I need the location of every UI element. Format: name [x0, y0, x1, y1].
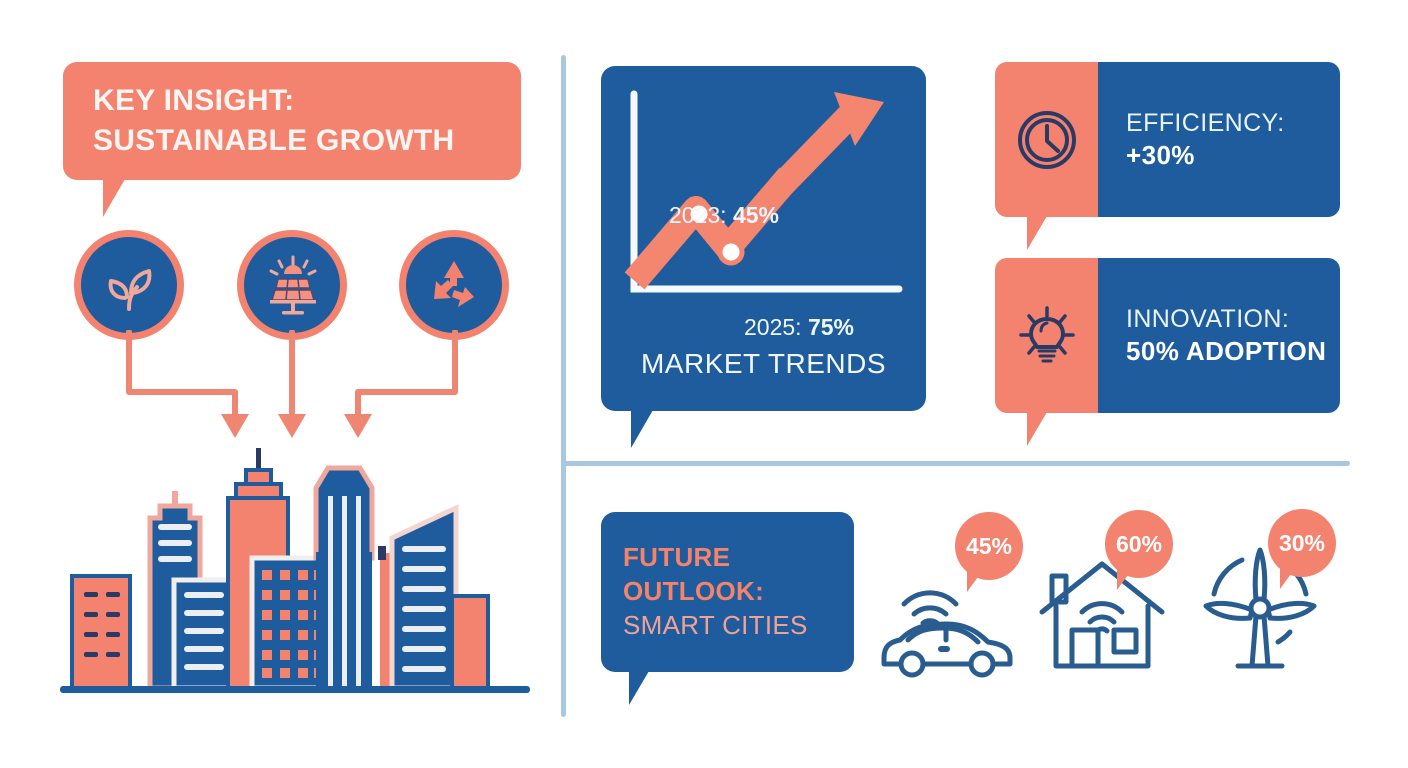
efficiency-text-panel: EFFICIENCY: +30% — [1098, 62, 1340, 217]
trend-arrow — [643, 92, 884, 271]
bubble-tail — [1027, 216, 1047, 250]
lightbulb-icon — [1016, 305, 1078, 367]
chart-label-2025: 2025: 75% — [744, 314, 854, 341]
efficiency-label: EFFICIENCY: — [1126, 108, 1340, 139]
innovation-card: INNOVATION: 50% ADOPTION — [995, 258, 1340, 413]
badge-value: 60% — [1116, 531, 1162, 558]
smart-city-badge-turbine: 30% — [1268, 509, 1336, 577]
badge-value: 30% — [1279, 530, 1325, 557]
innovation-text-panel: INNOVATION: 50% ADOPTION — [1098, 258, 1340, 413]
clock-icon — [1016, 109, 1078, 171]
solar-panel-icon — [259, 252, 325, 318]
efficiency-value: +30% — [1126, 139, 1340, 172]
market-trends-card: 2023: 45% 2025: 75% MARKET TRENDS — [601, 66, 926, 411]
market-trends-title: MARKET TRENDS — [601, 348, 926, 380]
bubble-tail — [103, 179, 125, 217]
vertical-divider — [561, 55, 566, 717]
data-point-marker — [720, 241, 742, 263]
badge-value: 45% — [966, 533, 1012, 560]
innovation-icon-panel — [995, 258, 1098, 413]
market-trends-chart — [601, 66, 926, 326]
key-insight-line2: SUSTAINABLE GROWTH — [93, 121, 455, 161]
smart-city-badge-car: 45% — [955, 512, 1023, 580]
smart-city-badge-home: 60% — [1105, 510, 1173, 578]
infographic-canvas: KEY INSIGHT: SUSTAINABLE GROWTH — [0, 0, 1408, 768]
pillar-circle-leaf — [74, 230, 184, 340]
bubble-tail — [631, 410, 653, 448]
connector-arrows — [70, 330, 540, 460]
future-outlook-card: FUTURE OUTLOOK: SMART CITIES — [601, 512, 854, 672]
efficiency-card: EFFICIENCY: +30% — [995, 62, 1340, 217]
bubble-tail — [629, 671, 649, 705]
innovation-value: 50% ADOPTION — [1126, 335, 1340, 368]
chart-label-2023: 2023: 45% — [669, 202, 779, 229]
recycle-icon — [422, 253, 486, 317]
key-insight-bubble: KEY INSIGHT: SUSTAINABLE GROWTH — [63, 62, 521, 180]
efficiency-icon-panel — [995, 62, 1098, 217]
city-skyline-illustration — [60, 448, 530, 700]
badge-tail — [1280, 567, 1296, 589]
innovation-label: INNOVATION: — [1126, 304, 1340, 335]
future-outlook-line3: SMART CITIES — [623, 609, 854, 643]
pillar-circle-solar — [237, 230, 347, 340]
key-insight-line1: KEY INSIGHT: — [93, 81, 455, 121]
horizontal-divider — [561, 461, 1350, 466]
badge-tail — [967, 570, 983, 592]
future-outlook-line1: FUTURE — [623, 541, 854, 575]
key-insight-text: KEY INSIGHT: SUSTAINABLE GROWTH — [93, 81, 455, 160]
leaf-icon — [97, 253, 161, 317]
pillar-circle-recycle — [399, 230, 509, 340]
bubble-tail — [1027, 412, 1047, 446]
badge-tail — [1117, 568, 1133, 590]
future-outlook-line2: OUTLOOK: — [623, 575, 854, 609]
